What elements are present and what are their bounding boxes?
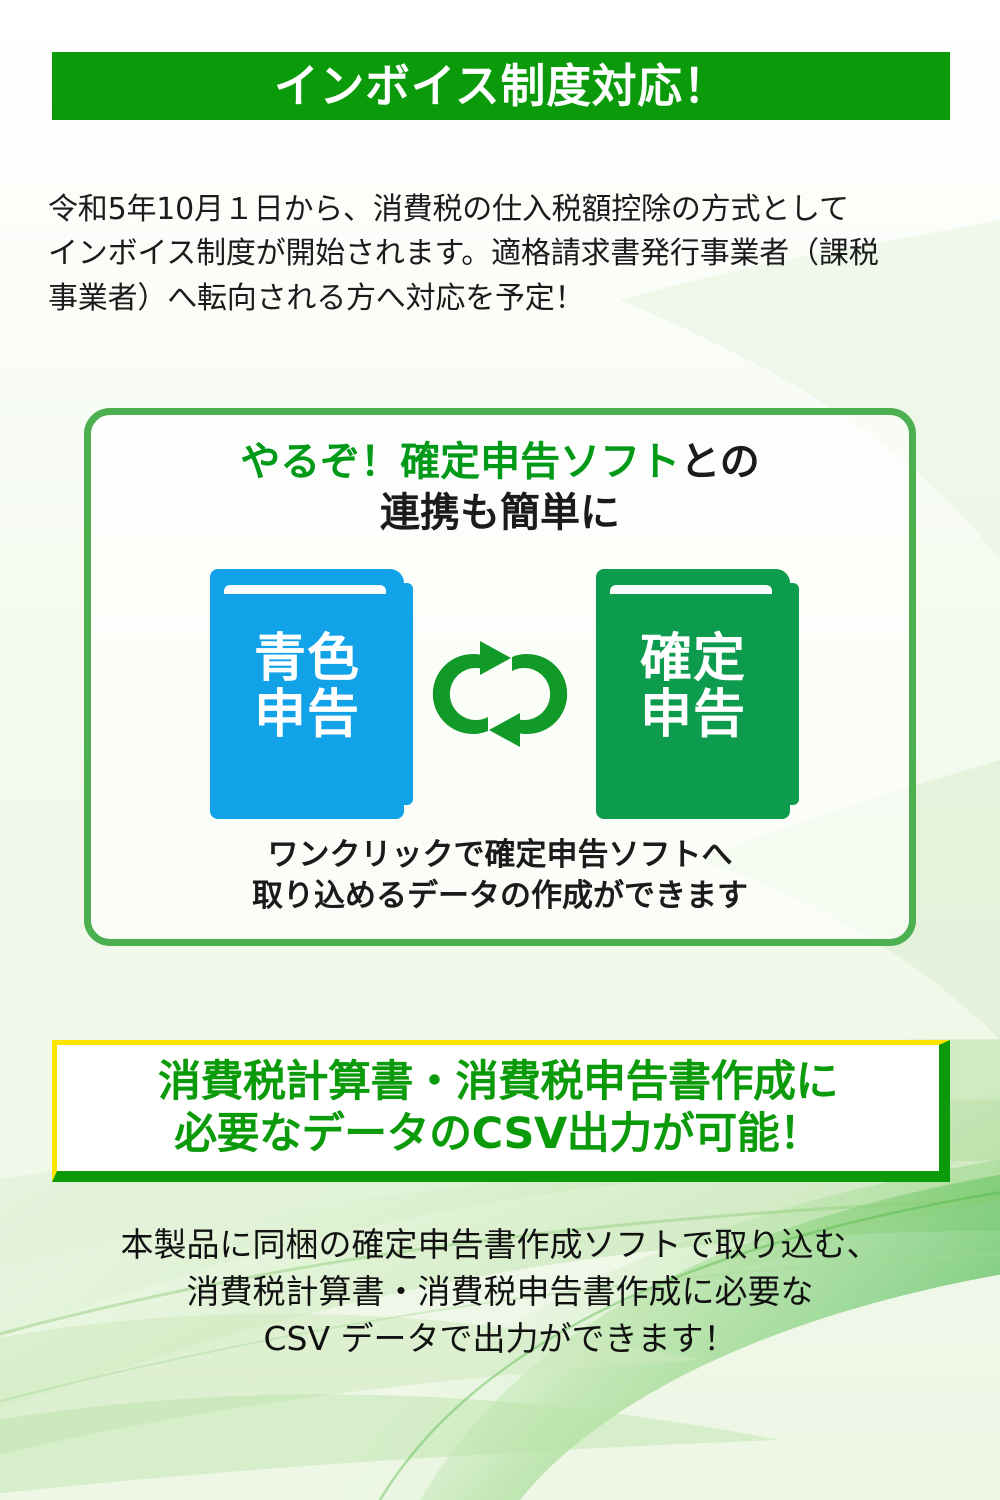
promo-page: インボイス制度対応！ 令和5年10月１日から、消費税の仕入税額控除の方式として … — [0, 0, 1000, 1500]
csv-banner-line-1: 消費税計算書・消費税申告書作成に — [158, 1056, 838, 1108]
card-heading-line-1: やるぞ！確定申告ソフトとの — [91, 437, 909, 488]
integration-card: やるぞ！確定申告ソフトとの 連携も簡単に 青色 申告 — [84, 408, 916, 946]
intro-line-3: 事業者）へ転向される方へ対応を予定！ — [48, 277, 958, 321]
csv-highlight-banner: 消費税計算書・消費税申告書作成に 必要なデータのCSV出力が可能！ — [52, 1040, 950, 1182]
intro-line-2: インボイス制度が開始されます。適格請求書発行事業者（課税 — [48, 232, 958, 276]
csv-banner-line-2: 必要なデータのCSV出力が可能！ — [158, 1108, 838, 1160]
card-heading: やるぞ！確定申告ソフトとの 連携も簡単に — [91, 437, 909, 539]
csv-banner-text: 消費税計算書・消費税申告書作成に 必要なデータのCSV出力が可能！ — [158, 1056, 838, 1161]
card-heading-tail: との — [680, 439, 760, 485]
green-book-icon: 確定 申告 — [596, 569, 790, 819]
blue-book-label-line-1: 青色 — [210, 631, 404, 687]
intro-line-1: 令和5年10月１日から、消費税の仕入税額控除の方式として — [48, 188, 958, 232]
header-title: インボイス制度対応！ — [274, 63, 729, 109]
card-heading-line-2: 連携も簡単に — [91, 488, 909, 539]
sync-arrows-icon — [425, 635, 575, 753]
green-book-label-line-1: 確定 — [596, 631, 790, 687]
card-heading-highlight: やるぞ！確定申告ソフト — [240, 439, 680, 485]
outro-paragraph: 本製品に同梱の確定申告書作成ソフトで取り込む、 消費税計算書・消費税申告書作成に… — [0, 1222, 1000, 1363]
blue-book-icon: 青色 申告 — [210, 569, 404, 819]
blue-book-label-line-2: 申告 — [210, 687, 404, 743]
outro-line-2: 消費税計算書・消費税申告書作成に必要な — [0, 1269, 1000, 1316]
header-banner: インボイス制度対応！ — [52, 52, 950, 120]
outro-line-3: CSV データで出力ができます！ — [0, 1316, 1000, 1363]
green-book-pageline — [610, 585, 772, 594]
sync-icon-wrap — [404, 569, 596, 819]
intro-paragraph: 令和5年10月１日から、消費税の仕入税額控除の方式として インボイス制度が開始さ… — [48, 188, 958, 321]
blue-book-label: 青色 申告 — [210, 631, 404, 743]
card-caption-line-2: 取り込めるデータの作成ができます — [91, 876, 909, 917]
blue-book-pageline — [224, 585, 386, 594]
card-caption: ワンクリックで確定申告ソフトへ 取り込めるデータの作成ができます — [91, 835, 909, 917]
green-book-label: 確定 申告 — [596, 631, 790, 743]
card-caption-line-1: ワンクリックで確定申告ソフトへ — [91, 835, 909, 876]
outro-line-1: 本製品に同梱の確定申告書作成ソフトで取り込む、 — [0, 1222, 1000, 1269]
books-row: 青色 申告 確定 申告 — [91, 563, 909, 825]
green-book-label-line-2: 申告 — [596, 687, 790, 743]
